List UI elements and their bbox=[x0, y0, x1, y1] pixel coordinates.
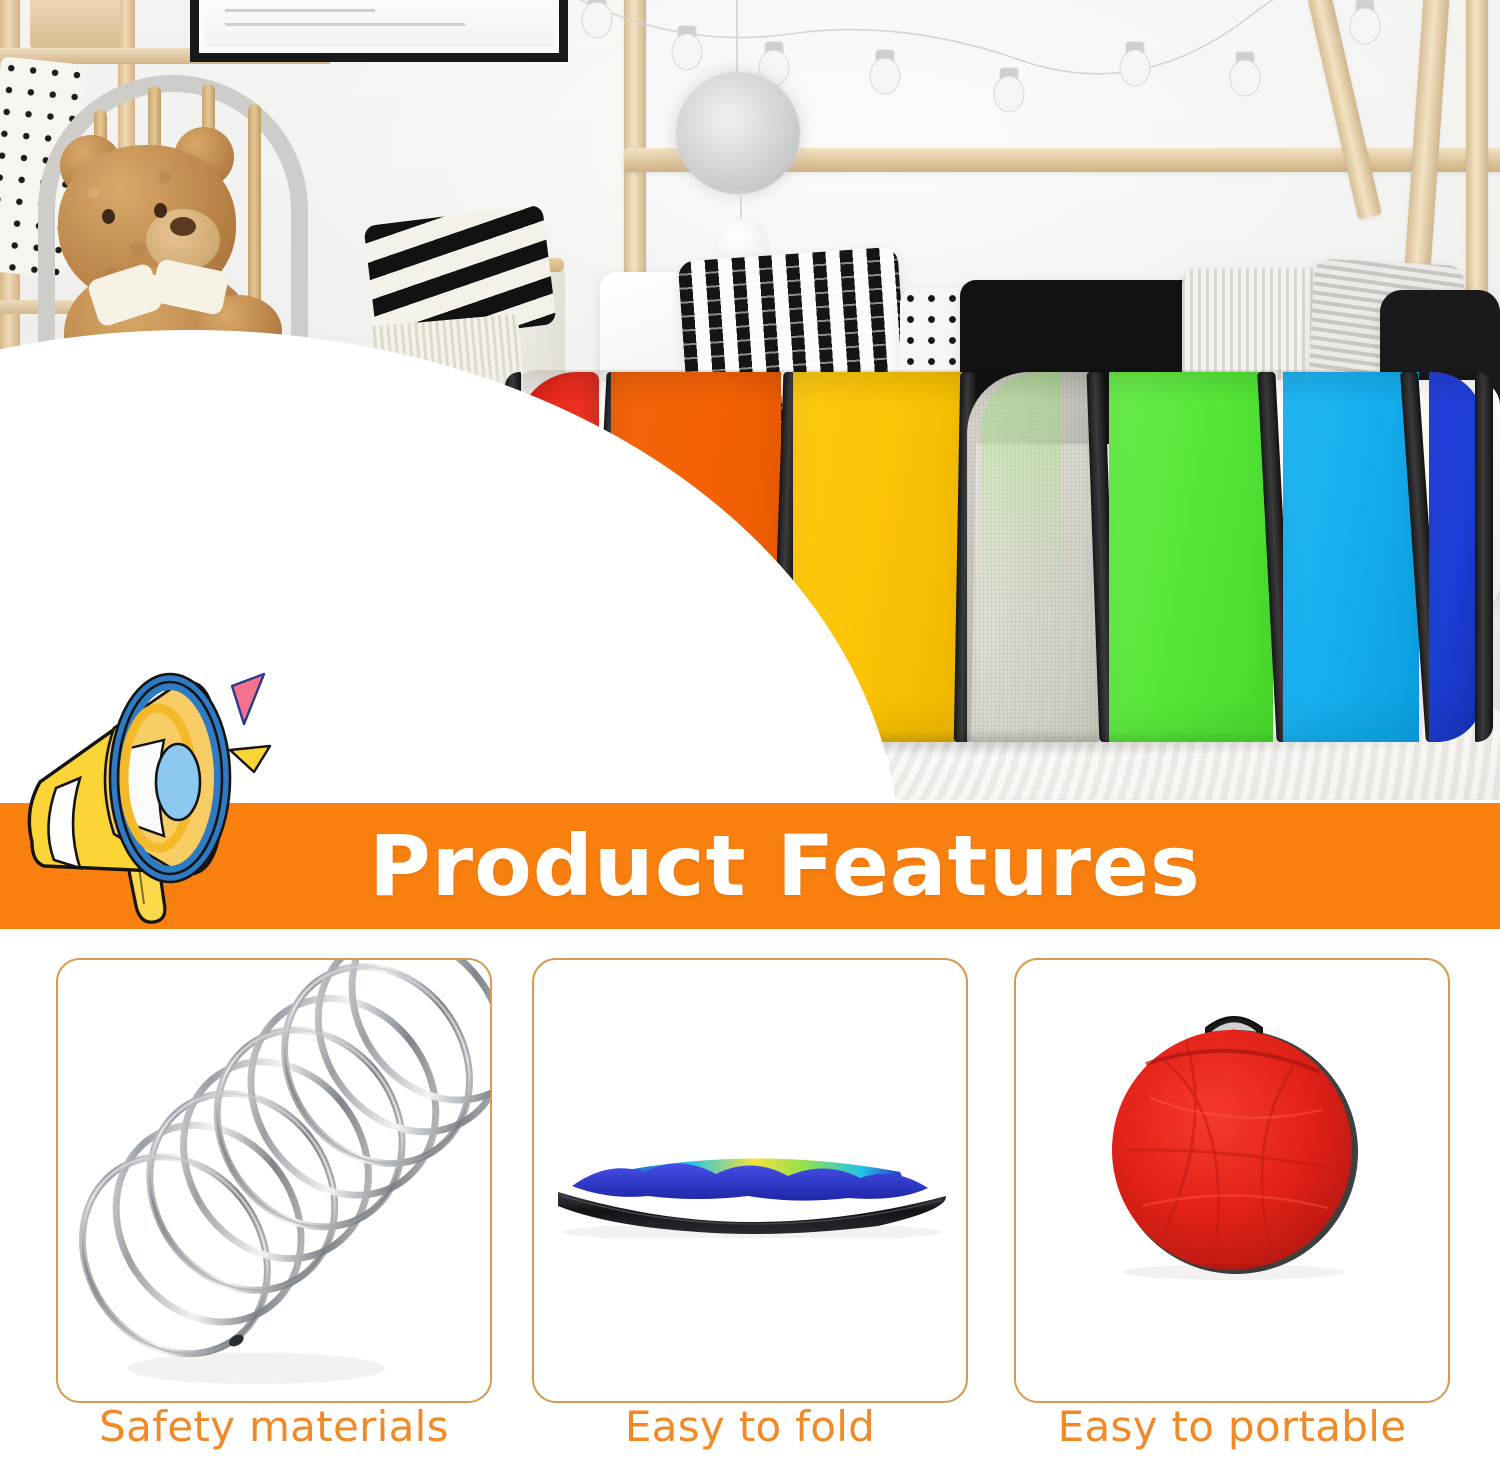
product-feature-page: Product Features bbox=[0, 0, 1500, 1470]
megaphone-icon bbox=[18, 628, 308, 928]
coil-spring-svg bbox=[58, 960, 490, 1401]
tunnel-seam-end bbox=[1475, 372, 1493, 742]
grey-pom-pom bbox=[676, 72, 800, 194]
red-carry-bag-image bbox=[1016, 960, 1448, 1401]
feature-card-safety-materials[interactable] bbox=[56, 958, 492, 1403]
red-bag-svg bbox=[1094, 1000, 1374, 1280]
tunnel-mesh-green-tint bbox=[981, 372, 1061, 592]
coil-spring-image bbox=[58, 960, 490, 1401]
megaphone-svg bbox=[18, 628, 308, 928]
feature-caption-safety-materials: Safety materials bbox=[56, 1402, 492, 1451]
tunnel-panel-green bbox=[1109, 372, 1273, 742]
teddy-nose bbox=[170, 217, 196, 236]
tunnel-panel-cyan bbox=[1283, 372, 1419, 742]
feature-card-easy-to-fold[interactable] bbox=[532, 958, 968, 1403]
folded-tunnel-svg bbox=[548, 1130, 956, 1238]
teddy-bow-knot bbox=[138, 275, 168, 305]
folded-tunnel-image bbox=[534, 960, 966, 1401]
feature-card-easy-to-portable[interactable] bbox=[1014, 958, 1450, 1403]
feature-caption-easy-to-portable: Easy to portable bbox=[1014, 1402, 1450, 1451]
teddy-eye-right bbox=[154, 203, 167, 218]
teddy-eye-left bbox=[102, 209, 115, 224]
feature-cards: Safety materials bbox=[0, 950, 1500, 1470]
feature-caption-easy-to-fold: Easy to fold bbox=[532, 1402, 968, 1451]
